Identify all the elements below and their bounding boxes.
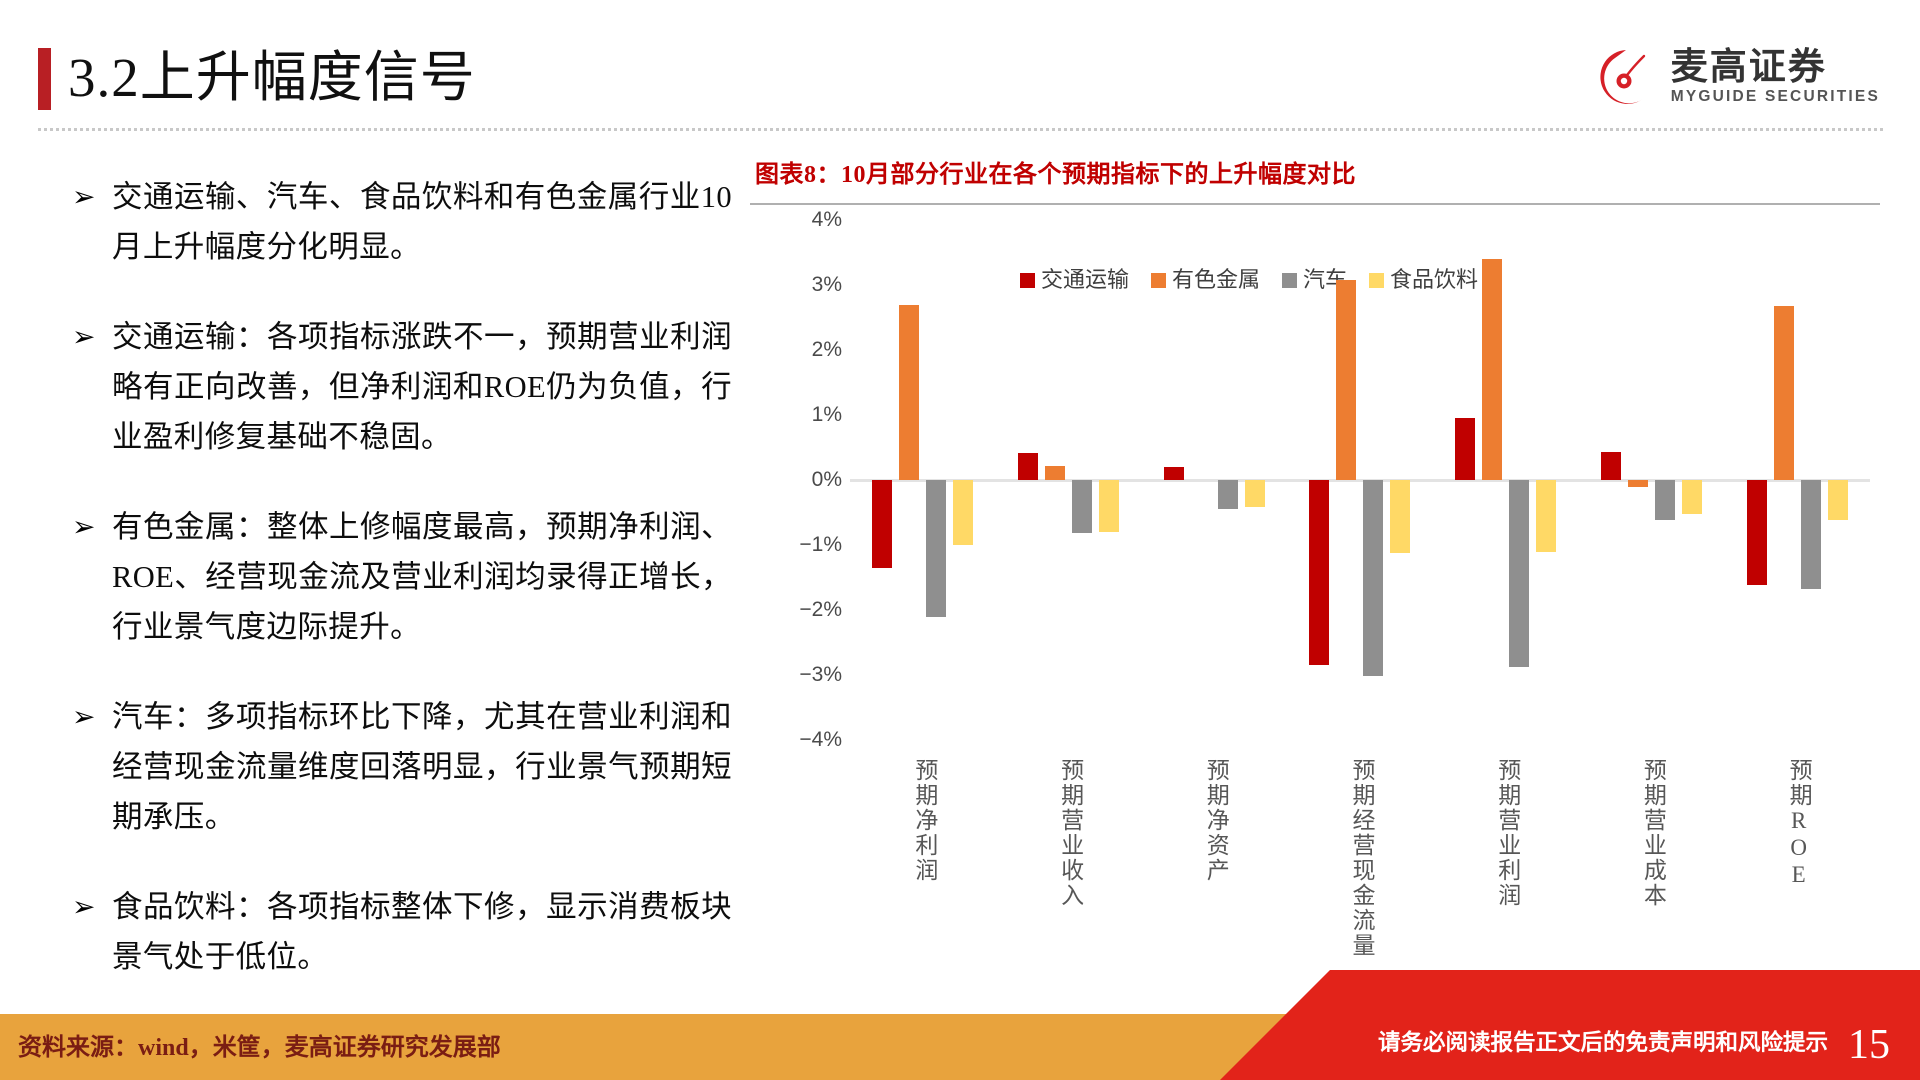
bar bbox=[1628, 480, 1648, 487]
slide-header: 3.2上升幅度信号 麦高证券 MYGUIDE SECURITIES bbox=[0, 0, 1920, 148]
bar bbox=[1655, 480, 1675, 520]
bar bbox=[1072, 480, 1092, 533]
x-axis-tick-label: 预期净资产 bbox=[1202, 758, 1229, 883]
bar bbox=[1482, 259, 1502, 480]
logo-name-cn: 麦高证券 bbox=[1671, 47, 1880, 87]
logo-swirl-icon bbox=[1595, 46, 1657, 108]
bar bbox=[926, 480, 946, 617]
list-item-text: 有色金属：整体上修幅度最高，预期净利润、ROE、经营现金流及营业利润均录得正增长… bbox=[112, 502, 732, 652]
bar bbox=[1018, 453, 1038, 480]
bar bbox=[953, 480, 973, 545]
bar bbox=[1309, 480, 1329, 665]
bar bbox=[1455, 418, 1475, 480]
bar bbox=[1747, 480, 1767, 585]
chart-title-divider bbox=[750, 203, 1880, 205]
bar-group bbox=[1287, 220, 1433, 740]
arrow-bullet-icon: ➢ bbox=[72, 692, 112, 842]
bar bbox=[1390, 480, 1410, 553]
list-item: ➢ 食品饮料：各项指标整体下修，显示消费板块景气处于低位。 bbox=[72, 882, 732, 982]
x-axis-tick-label: 预期经营现金流量 bbox=[1348, 758, 1375, 958]
header-divider bbox=[38, 128, 1883, 131]
chart-panel: 图表8：10月部分行业在各个预期指标下的上升幅度对比 交通运输有色金属汽车食品饮… bbox=[745, 150, 1885, 980]
bar bbox=[872, 480, 892, 568]
bar bbox=[1245, 480, 1265, 507]
x-axis-tick-label: 预期营业利润 bbox=[1494, 758, 1521, 908]
bar bbox=[1045, 466, 1065, 480]
y-axis-tick-label: −1% bbox=[762, 533, 842, 557]
y-axis-tick-label: 4% bbox=[762, 208, 842, 232]
logo-text: 麦高证券 MYGUIDE SECURITIES bbox=[1671, 47, 1880, 107]
bar bbox=[1801, 480, 1821, 589]
title-accent-bar bbox=[38, 48, 51, 110]
list-item: ➢ 汽车：多项指标环比下降，尤其在营业利润和经营现金流量维度回落明显，行业景气预… bbox=[72, 692, 732, 842]
y-axis-tick-label: −3% bbox=[762, 663, 842, 687]
arrow-bullet-icon: ➢ bbox=[72, 312, 112, 462]
bullet-list: ➢ 交通运输、汽车、食品饮料和有色金属行业10月上升幅度分化明显。 ➢ 交通运输… bbox=[72, 172, 732, 1022]
bar bbox=[1099, 480, 1119, 532]
bar-group bbox=[850, 220, 996, 740]
bar bbox=[1682, 480, 1702, 514]
source-note: 资料来源：wind，米筐，麦高证券研究发展部 bbox=[18, 1032, 501, 1064]
bar bbox=[1828, 480, 1848, 520]
list-item-text: 交通运输：各项指标涨跌不一，预期营业利润略有正向改善，但净利润和ROE仍为负值，… bbox=[112, 312, 732, 462]
bar bbox=[1363, 480, 1383, 676]
bar bbox=[899, 305, 919, 481]
bar bbox=[1336, 280, 1356, 480]
bar-group bbox=[1724, 220, 1870, 740]
y-axis-tick-label: 0% bbox=[762, 468, 842, 492]
y-axis-tick-label: 3% bbox=[762, 273, 842, 297]
disclaimer-note: 请务必阅读报告正文后的免责声明和风险提示 bbox=[1378, 1028, 1828, 1058]
x-axis-tick-label: 预期ROE bbox=[1785, 758, 1812, 889]
bar bbox=[1164, 467, 1184, 480]
bar-group bbox=[996, 220, 1142, 740]
y-axis-tick-label: −4% bbox=[762, 728, 842, 752]
bar bbox=[1774, 306, 1794, 480]
y-axis-tick-label: 1% bbox=[762, 403, 842, 427]
bar bbox=[1218, 480, 1238, 509]
bar bbox=[1601, 452, 1621, 480]
list-item-text: 交通运输、汽车、食品饮料和有色金属行业10月上升幅度分化明显。 bbox=[112, 172, 732, 272]
arrow-bullet-icon: ➢ bbox=[72, 882, 112, 982]
page-title: 3.2上升幅度信号 bbox=[68, 38, 476, 118]
chart-plot-area: 4%3%2%1%0%−1%−2%−3%−4% bbox=[850, 220, 1870, 740]
bar bbox=[1536, 480, 1556, 552]
y-axis-tick-label: 2% bbox=[762, 338, 842, 362]
logo-name-en: MYGUIDE SECURITIES bbox=[1671, 87, 1880, 107]
y-axis-tick-label: −2% bbox=[762, 598, 842, 622]
arrow-bullet-icon: ➢ bbox=[72, 172, 112, 272]
list-item-text: 食品饮料：各项指标整体下修，显示消费板块景气处于低位。 bbox=[112, 882, 732, 982]
bar-group bbox=[1433, 220, 1579, 740]
page-number: 15 bbox=[1848, 1021, 1890, 1069]
bar bbox=[1509, 480, 1529, 667]
bar-group bbox=[1141, 220, 1287, 740]
list-item: ➢ 交通运输、汽车、食品饮料和有色金属行业10月上升幅度分化明显。 bbox=[72, 172, 732, 272]
chart-title: 图表8：10月部分行业在各个预期指标下的上升幅度对比 bbox=[755, 158, 1356, 192]
bar-chart: 交通运输有色金属汽车食品饮料 4%3%2%1%0%−1%−2%−3%−4% 预期… bbox=[750, 210, 1885, 850]
list-item: ➢ 交通运输：各项指标涨跌不一，预期营业利润略有正向改善，但净利润和ROE仍为负… bbox=[72, 312, 732, 462]
arrow-bullet-icon: ➢ bbox=[72, 502, 112, 652]
list-item: ➢ 有色金属：整体上修幅度最高，预期净利润、ROE、经营现金流及营业利润均录得正… bbox=[72, 502, 732, 652]
x-axis-tick-label: 预期营业成本 bbox=[1639, 758, 1666, 908]
x-axis-tick-label: 预期净利润 bbox=[911, 758, 938, 883]
bar-group bbox=[1579, 220, 1725, 740]
list-item-text: 汽车：多项指标环比下降，尤其在营业利润和经营现金流量维度回落明显，行业景气预期短… bbox=[112, 692, 732, 842]
company-logo: 麦高证券 MYGUIDE SECURITIES bbox=[1595, 44, 1880, 110]
slide-root: 3.2上升幅度信号 麦高证券 MYGUIDE SECURITIES ➢ 交通运输 bbox=[0, 0, 1920, 1080]
x-axis-tick-label: 预期营业收入 bbox=[1057, 758, 1084, 908]
